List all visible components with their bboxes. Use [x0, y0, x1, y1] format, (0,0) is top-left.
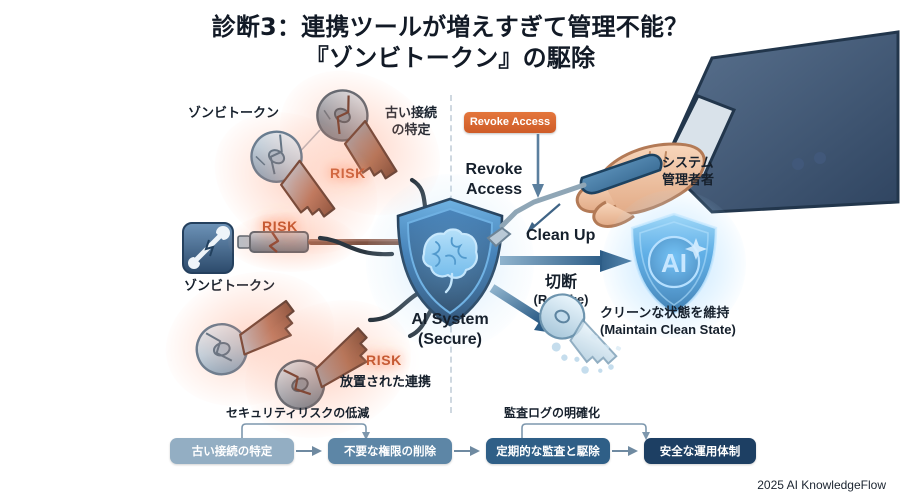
sys-admin-line-2: 管理者者	[662, 173, 714, 190]
maintain-jp: クリーンな状態を維持	[600, 306, 736, 322]
flow-arrow-3	[612, 445, 638, 457]
broken-wrench-icon	[182, 222, 234, 274]
footer-credit: 2025 AI KnowledgeFlow	[757, 478, 886, 492]
sys-admin-line-1: システム	[662, 156, 714, 173]
flow-arrow-1	[296, 445, 322, 457]
label-abandoned-integration: 放置された連携	[340, 375, 431, 391]
flow-step-4[interactable]: 安全な運用体制	[644, 438, 756, 464]
maintain-en: (Maintain Clean State)	[600, 322, 736, 338]
title-line-1: 診断3：連携ツールが増えすぎて管理不能？	[212, 13, 689, 41]
flow-caption-left: セキュリティリスクの低減	[226, 404, 369, 421]
flow-step-3[interactable]: 定期的な監査と駆除	[486, 438, 610, 464]
illustration-canvas: 診断3：連携ツールが増えすぎて管理不能？ 『ゾンビトークン』の駆除 ゾンビトーク…	[0, 0, 900, 502]
flow-step-1[interactable]: 古い接続の特定	[170, 438, 294, 464]
flow-arrow-2	[454, 445, 480, 457]
flow-step-2[interactable]: 不要な権限の削除	[328, 438, 452, 464]
label-maintain-clean-state: クリーンな状態を維持 (Maintain Clean State)	[600, 306, 736, 338]
flow-caption-right: 監査ログの明確化	[504, 404, 600, 421]
process-flow: セキュリティリスクの低減 監査ログの明確化 古い接続の特定 不要な権限の削除 定…	[170, 404, 730, 476]
ai-shield-icon: AI	[628, 212, 720, 316]
risk-label-2: RISK	[262, 218, 298, 234]
label-system-admin: システム 管理者者	[662, 156, 714, 190]
label-clean-up: Clean Up	[526, 226, 595, 246]
risk-label-3: RISK	[366, 352, 402, 368]
